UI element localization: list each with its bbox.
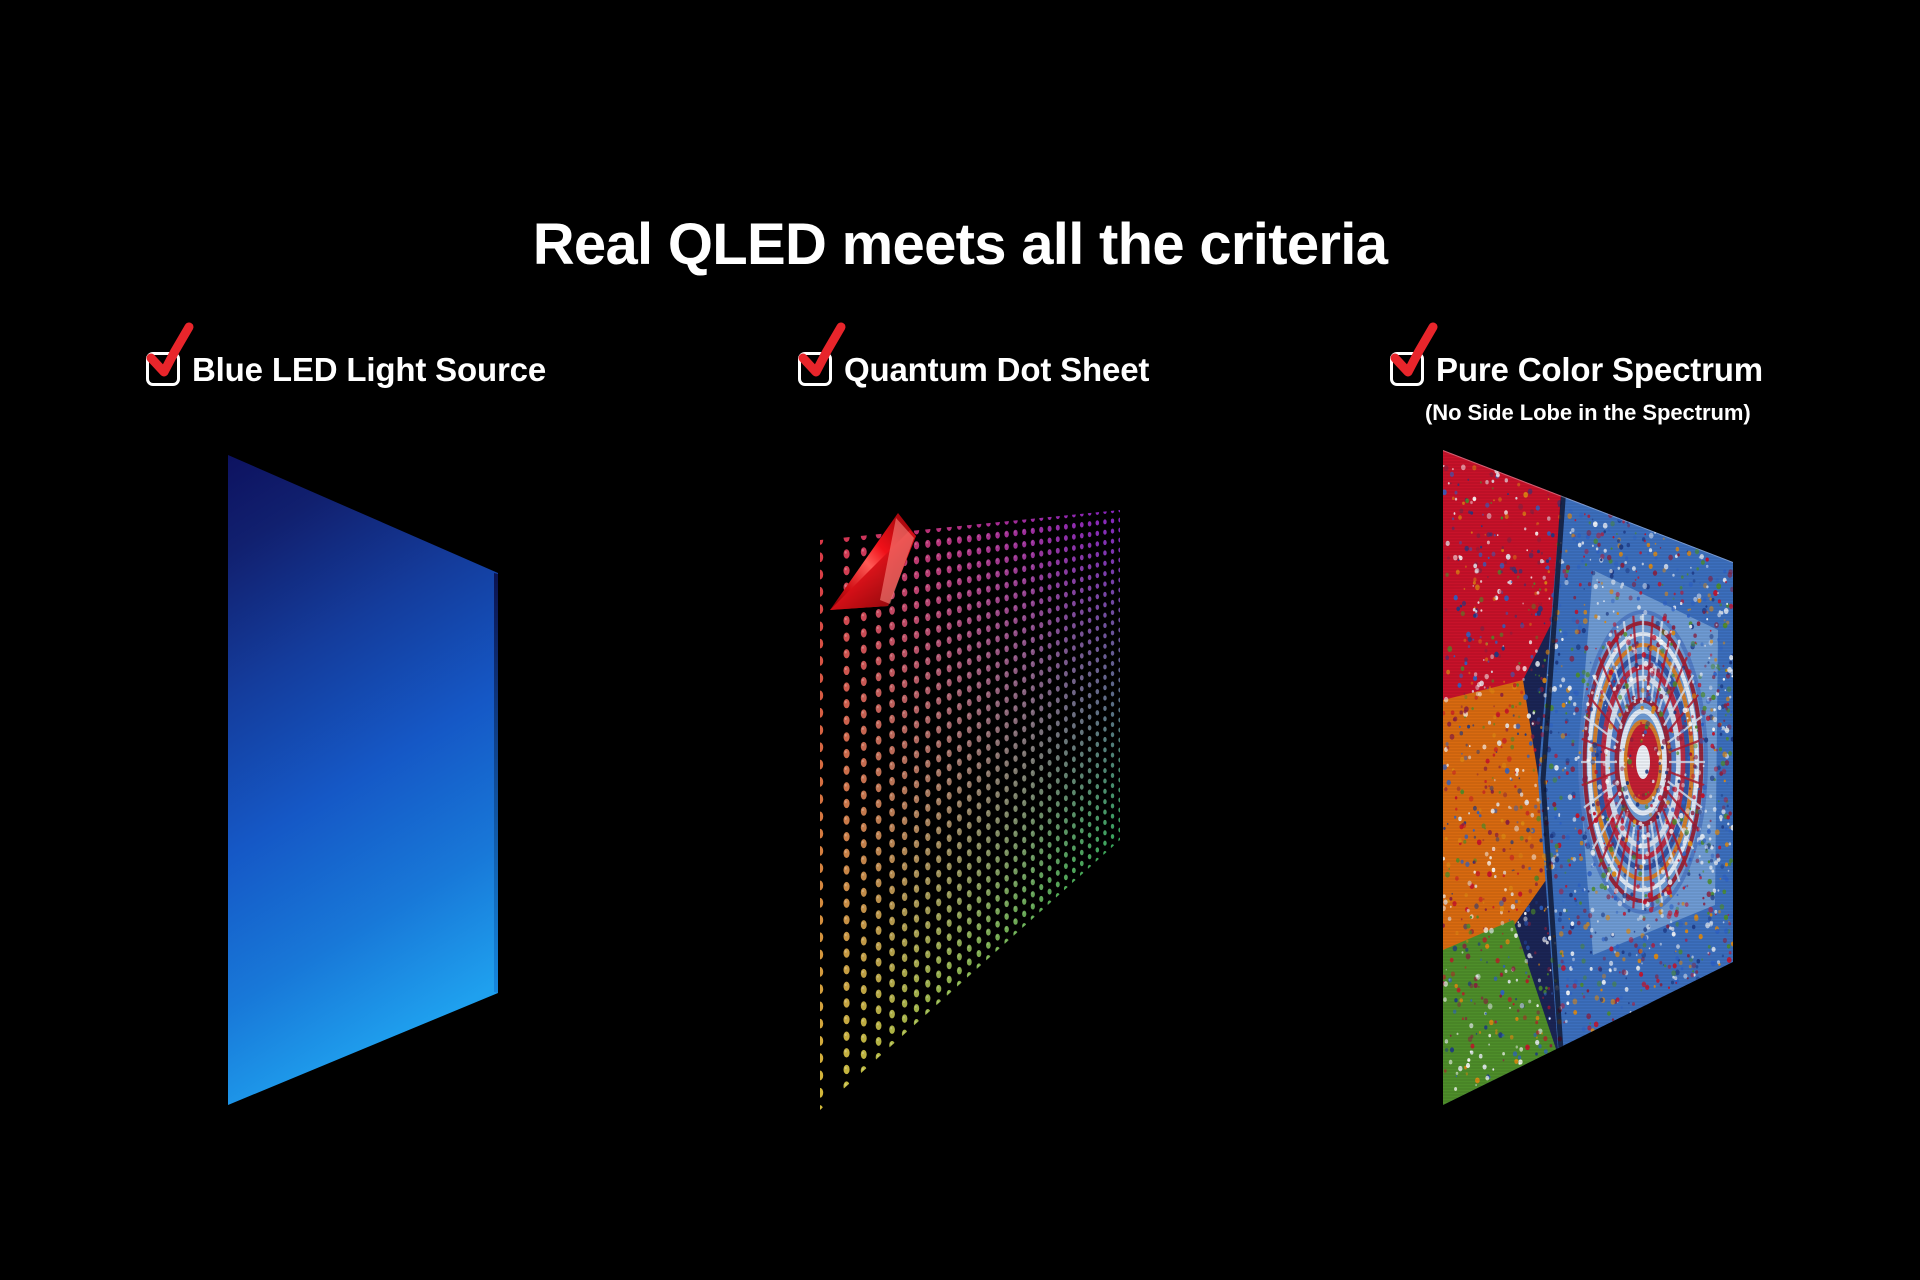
criterion-label: Quantum Dot Sheet xyxy=(844,353,1149,386)
blue-panel-shape xyxy=(228,455,498,1105)
criterion-sublabel: (No Side Lobe in the Spectrum) xyxy=(1425,400,1751,426)
slide-canvas: Real QLED meets all the criteria Blue LE… xyxy=(0,0,1920,1280)
blue-panel-edge xyxy=(494,573,498,993)
blue-panel-face xyxy=(228,455,498,1105)
color-spectrum-panel xyxy=(1443,450,1733,1105)
page-title: Real QLED meets all the criteria xyxy=(0,215,1920,276)
quantum-dot-grid xyxy=(820,510,1120,1110)
check-mark-icon xyxy=(1389,325,1441,385)
checkbox-checked-icon[interactable] xyxy=(146,352,180,386)
criterion-label: Blue LED Light Source xyxy=(192,353,546,386)
criterion-label: Pure Color Spectrum xyxy=(1436,353,1763,386)
spectrum-panel-shape xyxy=(1443,450,1733,1105)
textile-pattern xyxy=(1441,450,1735,1105)
blue-light-panel xyxy=(228,455,498,1105)
checkbox-checked-icon[interactable] xyxy=(1390,352,1424,386)
checkbox-checked-icon[interactable] xyxy=(798,352,832,386)
check-mark-icon xyxy=(797,325,849,385)
check-mark-icon xyxy=(145,325,197,385)
criterion-blue-led-light-source[interactable]: Blue LED Light Source xyxy=(146,352,546,386)
quantum-dot-panel xyxy=(820,510,1120,1110)
criterion-quantum-dot-sheet[interactable]: Quantum Dot Sheet xyxy=(798,352,1149,386)
criterion-pure-color-spectrum[interactable]: Pure Color Spectrum xyxy=(1390,352,1763,386)
